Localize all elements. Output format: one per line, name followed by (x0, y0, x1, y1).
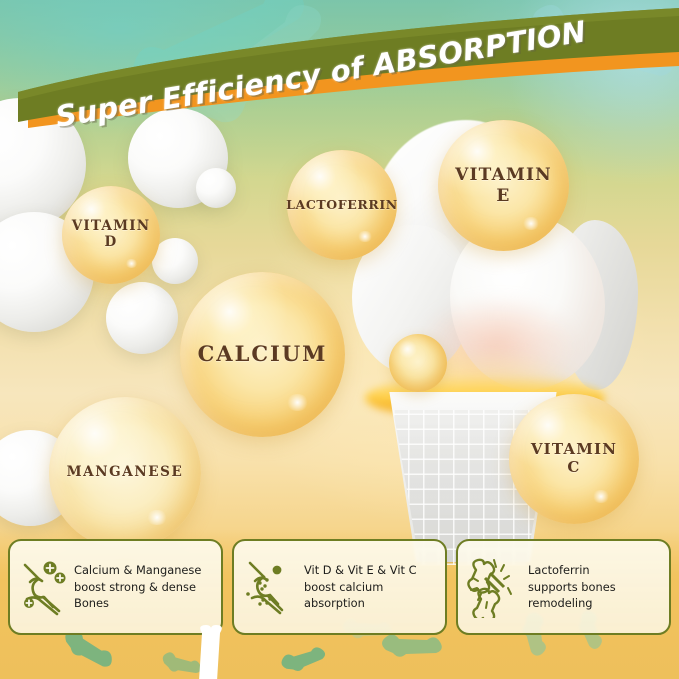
bubble-label-line2: E (455, 186, 552, 206)
card-vitamins[interactable]: Vit D & Vit E & Vit C boost calcium abso… (232, 539, 447, 635)
bubble-manganese: MANGANESE (49, 397, 201, 549)
bubble-label-line1: VITAMIN (455, 165, 552, 185)
white-bone-decoration (198, 625, 224, 679)
decorative-sphere (196, 168, 236, 208)
bubble-vitamin-d: VITAMIN D (62, 186, 160, 284)
mini-bone-icon (58, 632, 118, 677)
joint-minerals-icon (242, 556, 294, 618)
mini-bone-icon (280, 644, 330, 679)
card-line-3: absorption (304, 597, 417, 610)
infographic-canvas: Super Efficiency of ABSORPTION VITAMIN D… (0, 0, 679, 679)
bubble-label-line2: C (531, 459, 617, 477)
bubble-label-line1: CALCIUM (198, 342, 328, 367)
bubble-vitamin-e: VITAMIN E (438, 120, 569, 251)
card-line-2: boost strong & dense (74, 581, 201, 594)
bubble-label-line2: D (72, 235, 151, 251)
bubble-label-line1: VITAMIN (531, 441, 617, 459)
card-line-2: boost calcium (304, 581, 417, 594)
bubble-small-plain (389, 334, 447, 392)
banner-ribbon: Super Efficiency of ABSORPTION (0, 0, 679, 150)
card-line-1: Vit D & Vit E & Vit C (304, 564, 417, 577)
bubble-label-line1: LACTOFERRIN (286, 198, 398, 213)
joint-plus-icon (18, 556, 70, 618)
card-line-2: supports bones (528, 581, 616, 594)
bubble-vitamin-c: VITAMIN C (509, 394, 639, 524)
bubble-label-line1: VITAMIN (72, 219, 151, 235)
bubble-lactoferrin: LACTOFERRIN (287, 150, 397, 260)
card-text-lines: Vit D & Vit E & Vit C boost calcium abso… (294, 564, 417, 610)
card-text-lines: Lactoferrin supports bones remodeling (518, 564, 616, 610)
card-lactoferrin[interactable]: Lactoferrin supports bones remodeling (456, 539, 671, 635)
bone-remodel-icon (466, 556, 518, 618)
decorative-sphere (106, 282, 178, 354)
card-line-1: Lactoferrin (528, 564, 616, 577)
bubble-calcium: CALCIUM (180, 272, 345, 437)
card-line-3: Bones (74, 597, 201, 610)
card-text-lines: Calcium & Manganese boost strong & dense… (70, 564, 201, 610)
card-line-3: remodeling (528, 597, 616, 610)
benefit-cards: Calcium & Manganese boost strong & dense… (8, 539, 671, 635)
card-calcium-manganese[interactable]: Calcium & Manganese boost strong & dense… (8, 539, 223, 635)
card-line-1: Calcium & Manganese (74, 564, 201, 577)
bubble-label-line1: MANGANESE (67, 465, 184, 481)
